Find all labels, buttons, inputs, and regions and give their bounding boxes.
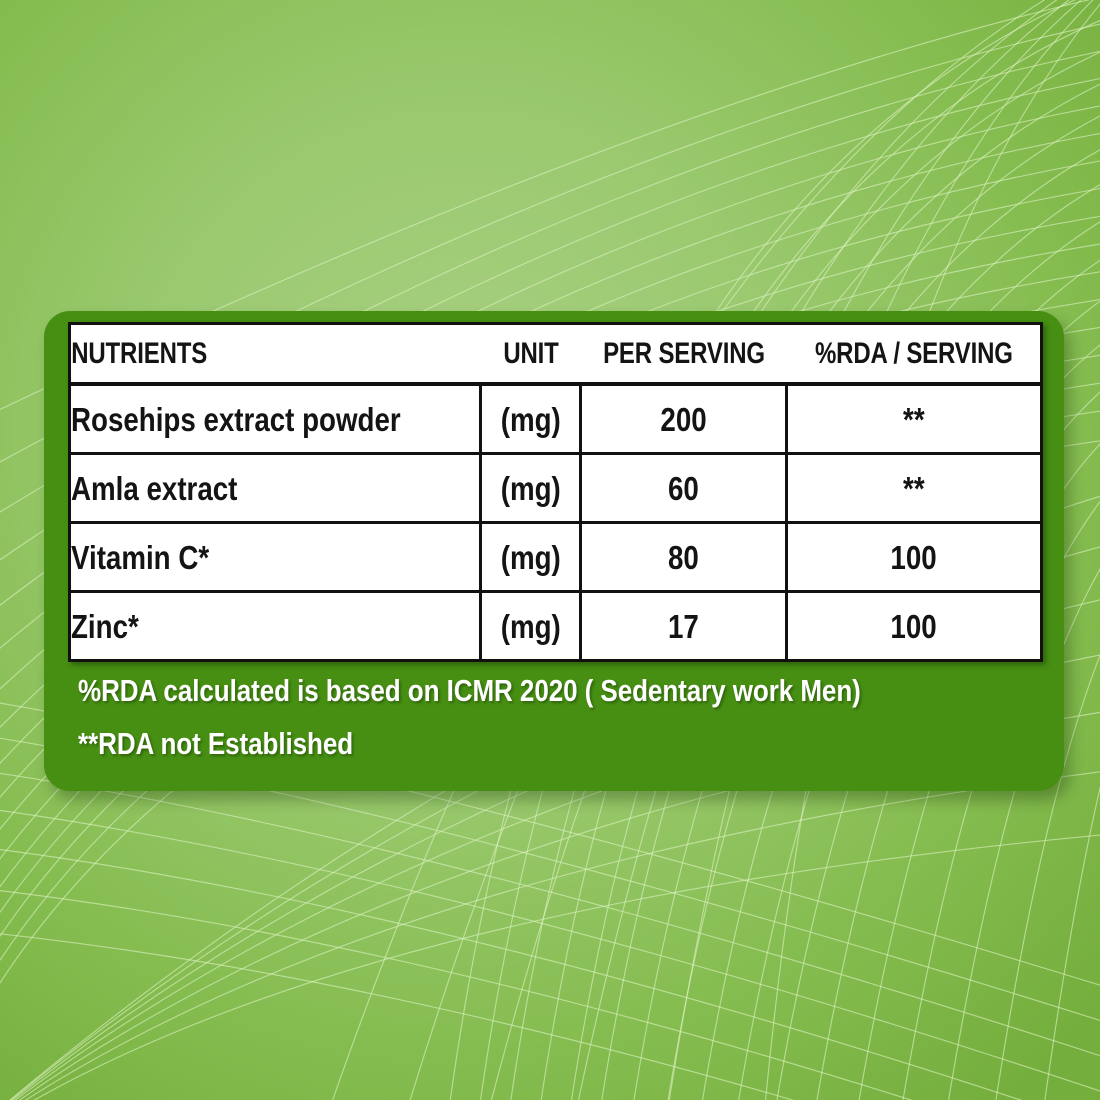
cell-per-serving: 17	[581, 592, 787, 661]
table-row: Vitamin C* (mg) 80 100	[70, 523, 1042, 592]
table-row: Rosehips extract powder (mg) 200 **	[70, 384, 1042, 454]
cell-nutrient: Amla extract	[70, 454, 481, 523]
cell-rda-serving: **	[787, 454, 1042, 523]
cell-nutrient: Rosehips extract powder	[70, 384, 481, 454]
table-header-row: NUTRIENTS UNIT PER SERVING %RDA / SERVIN…	[70, 324, 1042, 385]
cell-unit: (mg)	[481, 384, 581, 454]
nutrition-facts-table: NUTRIENTS UNIT PER SERVING %RDA / SERVIN…	[68, 322, 1043, 662]
footnote-rda-not-established: **RDA not Established	[78, 728, 1040, 759]
cell-rda-serving: 100	[787, 523, 1042, 592]
cell-nutrient: Zinc*	[70, 592, 481, 661]
footnote-rda-basis: %RDA calculated is based on ICMR 2020 ( …	[78, 675, 1040, 706]
cell-rda-serving: 100	[787, 592, 1042, 661]
nutrition-label-image: NUTRIENTS UNIT PER SERVING %RDA / SERVIN…	[0, 0, 1100, 1100]
cell-per-serving: 80	[581, 523, 787, 592]
column-header-unit: UNIT	[491, 324, 571, 385]
nutrition-label-card: NUTRIENTS UNIT PER SERVING %RDA / SERVIN…	[44, 311, 1064, 791]
cell-rda-serving: **	[787, 384, 1042, 454]
table-row: Amla extract (mg) 60 **	[70, 454, 1042, 523]
column-header-per-serving: PER SERVING	[601, 324, 766, 385]
footnotes-block: %RDA calculated is based on ICMR 2020 ( …	[68, 675, 1040, 759]
cell-per-serving: 60	[581, 454, 787, 523]
cell-unit: (mg)	[481, 592, 581, 661]
cell-per-serving: 200	[581, 384, 787, 454]
cell-unit: (mg)	[481, 454, 581, 523]
cell-unit: (mg)	[481, 523, 581, 592]
column-header-rda-serving: %RDA / SERVING	[812, 324, 1016, 385]
table-row: Zinc* (mg) 17 100	[70, 592, 1042, 661]
column-header-nutrients: NUTRIENTS	[70, 324, 399, 385]
cell-nutrient: Vitamin C*	[70, 523, 481, 592]
